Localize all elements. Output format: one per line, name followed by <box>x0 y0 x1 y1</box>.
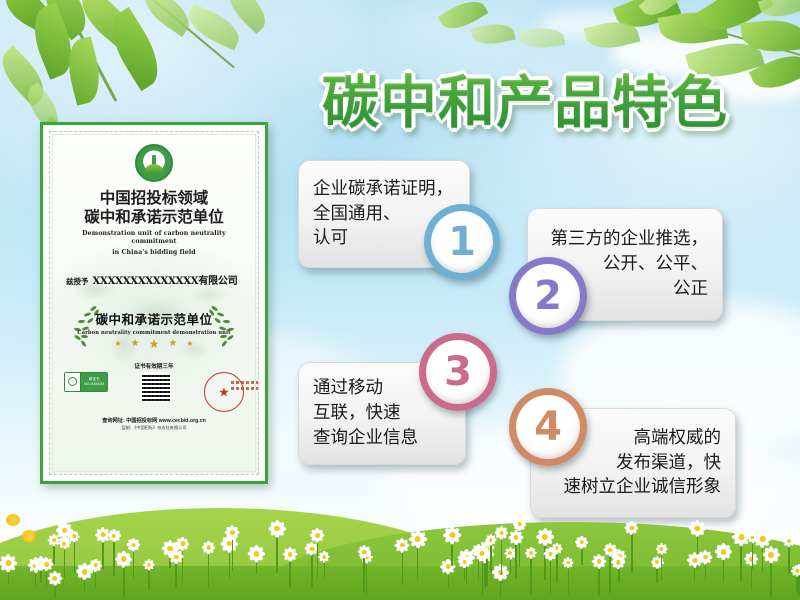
daisy-core <box>62 528 68 534</box>
certificate-english-line1: Demonstration unit of carbon neutrality … <box>60 230 248 247</box>
daisy-stem <box>289 560 291 588</box>
daisy-stem <box>53 545 55 564</box>
daisy-head <box>59 539 69 549</box>
red-official-seal: ★ <box>204 372 244 412</box>
daisy-flower <box>170 551 182 587</box>
star-icon: ★ <box>149 338 160 350</box>
daisy-core <box>499 531 503 535</box>
daisy-core <box>616 560 621 565</box>
daisy-core <box>72 534 76 538</box>
daisy-head <box>716 545 730 559</box>
daisy-stem <box>84 579 86 591</box>
daisy-stem <box>175 563 177 587</box>
daisy-flower <box>459 557 470 580</box>
daisy-stem <box>74 541 76 573</box>
daisy-flower <box>716 545 730 582</box>
daisy-core <box>62 542 66 546</box>
star-icon: ★ <box>186 340 193 348</box>
daisy-stem <box>515 543 517 579</box>
daisy-stem <box>54 584 56 598</box>
daisy-head <box>657 544 667 554</box>
daisy-flower <box>748 533 757 569</box>
award-label: 兹授予 <box>66 276 89 287</box>
award-company-name: XXXXXXXXXXXXXX有限公司 <box>93 272 238 287</box>
daisy-flower <box>613 557 624 579</box>
daisy-stem <box>417 547 419 580</box>
daisy-flower <box>128 539 139 577</box>
daisy-head <box>270 522 284 536</box>
daisy-head <box>496 527 507 538</box>
daisy-core <box>254 551 260 557</box>
certificate-publisher: 监制: 《中国招标》杂志社有限公司 <box>60 425 248 431</box>
daisy-stem <box>661 554 663 579</box>
daisy-head <box>605 545 616 556</box>
daisy-core <box>489 538 493 542</box>
daisy-stem <box>64 549 66 579</box>
daisy-head <box>1 556 16 571</box>
daisy-head <box>486 535 495 544</box>
daisy-head <box>177 538 188 549</box>
daisy-flower <box>410 532 425 580</box>
certificate-number-badge: 碳证书 NO.0000034 <box>64 372 108 392</box>
daisy-flower <box>90 560 101 587</box>
feature-card-3-text: 通过移动 互联，快速 查询企业信息 <box>313 376 418 451</box>
daisy-stem <box>451 543 453 566</box>
daisy-head <box>144 560 153 569</box>
daisy-core <box>721 549 727 555</box>
daisy-stem <box>402 551 404 585</box>
daisy-flower <box>510 531 522 579</box>
daisy-stem <box>500 580 502 598</box>
daisy-flower <box>626 523 637 572</box>
daisy-head <box>734 530 749 545</box>
daisy-flower <box>312 530 324 578</box>
daisy-stem <box>740 545 742 581</box>
daisy-head <box>284 548 296 560</box>
daisy-flower <box>564 558 573 595</box>
daisy-stem <box>752 542 754 568</box>
certificate-heading-line1: 中国招投标领域 <box>60 188 248 207</box>
daisy-head <box>691 522 704 535</box>
daisy-stem <box>256 561 258 574</box>
daisy-stem <box>788 546 790 574</box>
daisy-core <box>274 526 280 532</box>
poster-title: 碳中和产品特色 <box>322 57 728 139</box>
daisy-flower <box>526 549 536 594</box>
daisy-flower <box>496 527 507 574</box>
wreath-title-en: Carbon neutrality commitment demonstrati… <box>60 330 248 336</box>
daisy-stem <box>568 567 570 595</box>
badge-number: NO.0000034 <box>84 382 104 387</box>
daisy-head <box>109 531 119 541</box>
daisy-core <box>100 532 105 537</box>
daisy-stem <box>276 536 278 573</box>
daisy-stem <box>46 570 48 586</box>
daisy-flower <box>1 556 16 584</box>
daisy-stem <box>618 568 620 578</box>
daisy-stem <box>705 563 707 579</box>
daisy-stem <box>631 534 633 572</box>
star-icon: ★ <box>168 339 177 349</box>
daisy-flower <box>59 539 69 578</box>
daisy-flower <box>226 527 238 572</box>
daisy-core <box>180 541 184 545</box>
daisy-head <box>312 530 324 542</box>
leaf-seal-icon <box>65 373 81 391</box>
badge-number-1: 1 <box>448 222 476 262</box>
daisy-head <box>410 532 425 547</box>
certificate-validity: 证书有效期三年 <box>60 362 248 370</box>
feature-line: 互联，快速 <box>313 401 418 426</box>
daisy-stem <box>550 559 552 594</box>
daisy-core <box>787 539 791 543</box>
feature-badge-2: 2 <box>509 257 587 335</box>
seal-text-lines <box>231 381 259 393</box>
daisy-flower <box>700 551 712 579</box>
daisy-stem <box>501 538 503 574</box>
daisy-flower <box>359 547 370 593</box>
daisy-flower <box>270 522 284 573</box>
daisy-stem <box>530 558 532 594</box>
daisy-head <box>538 529 552 543</box>
daisy-head <box>250 547 264 561</box>
daisy-stem <box>448 573 450 589</box>
daisy-core <box>52 538 56 542</box>
daisy-flower <box>109 531 119 576</box>
dandelion-flower <box>6 514 20 526</box>
daisy-flower <box>396 539 408 585</box>
daisy-core <box>608 548 612 552</box>
certificate-footer: 证书有效期三年 碳证书 NO.0000034 ★ <box>60 362 248 432</box>
daisy-stem <box>113 541 115 575</box>
daisy-core <box>82 569 87 574</box>
badge-number-4: 4 <box>534 407 562 447</box>
seal-star-icon: ★ <box>218 385 230 398</box>
daisy-head <box>764 548 778 562</box>
daisy-stem <box>363 557 365 592</box>
daisy-head <box>445 528 460 543</box>
daisy-stem <box>723 559 725 582</box>
daisy-head <box>41 559 53 571</box>
daisy-core <box>147 563 151 567</box>
daisy-head <box>49 535 59 545</box>
daisy-flower <box>486 535 495 572</box>
daisy-core <box>630 526 634 530</box>
daisy-flower <box>203 542 214 588</box>
certificate-query-url: 查询网址: 中国招投标网 www.cecbid.org.cn <box>60 417 248 424</box>
daisy-flower <box>41 559 53 587</box>
daisy-core <box>659 547 663 551</box>
daisy-flower <box>657 544 667 579</box>
star-icon: ★ <box>114 340 121 348</box>
daisy-flower <box>144 560 153 590</box>
certificate-award-row: 兹授予 XXXXXXXXXXXXXX有限公司 <box>66 272 248 287</box>
daisy-flower <box>593 555 605 596</box>
daisy-head <box>613 557 624 568</box>
daisy-head <box>784 536 794 546</box>
daisy-core <box>795 569 799 573</box>
daisy-stem <box>95 571 97 588</box>
daisy-head <box>128 539 139 550</box>
daisy-head <box>748 533 757 542</box>
daisy-stem <box>490 544 492 572</box>
grass-meadow <box>0 470 800 600</box>
qr-code <box>141 372 171 402</box>
daisy-flower <box>284 548 296 588</box>
daisy-head <box>626 523 637 534</box>
daisy-flower <box>70 532 79 574</box>
daisy-head <box>510 531 522 543</box>
daisy-stem <box>581 547 583 565</box>
daisy-core <box>768 552 774 558</box>
wreath-title-cn: 碳中和承诺示范单位 <box>60 309 248 328</box>
daisy-head <box>564 558 573 567</box>
daisy-core <box>692 558 697 563</box>
daisy-stem <box>770 562 772 597</box>
badge-number-3: 3 <box>444 352 472 392</box>
feature-line: 第三方的企业推选， <box>551 227 709 252</box>
daisy-head <box>78 565 92 579</box>
daisy-head <box>396 539 408 551</box>
feature-badge-3: 3 <box>419 333 497 411</box>
daisy-stem <box>317 541 319 578</box>
daisy-stem <box>324 561 326 578</box>
daisy-flower <box>250 547 264 574</box>
certificate-english-line2: in China's bidding field <box>60 249 248 257</box>
daisy-head <box>203 542 214 553</box>
feature-line: 通过移动 <box>313 376 418 401</box>
daisy-stem <box>208 553 210 588</box>
daisy-stem <box>133 550 135 577</box>
daisy-flower <box>688 554 701 581</box>
daisy-flower <box>784 536 794 574</box>
daisy-head <box>90 560 101 571</box>
daisy-core <box>131 543 135 547</box>
daisy-head <box>514 519 524 529</box>
daisy-core <box>362 550 366 554</box>
daisy-core <box>529 551 533 555</box>
daisy-stem <box>464 567 466 580</box>
daisy-stem <box>232 539 234 572</box>
daisy-stem <box>751 565 753 589</box>
daisy-head <box>526 549 536 559</box>
feature-line: 查询企业信息 <box>313 426 418 451</box>
daisy-stem <box>694 567 696 581</box>
daisy-flower <box>552 544 561 584</box>
feature-badge-4: 4 <box>509 388 587 466</box>
daisy-core <box>513 535 518 540</box>
daisy-flower <box>764 548 778 598</box>
dandelion-flower <box>22 530 36 542</box>
daisy-head <box>170 551 182 563</box>
daisy-head <box>688 554 701 567</box>
badge-number-2: 2 <box>534 276 562 316</box>
daisy-stem <box>482 560 484 596</box>
certificate-heading-line2: 碳中和承诺示范单位 <box>60 207 248 226</box>
daisy-stem <box>796 576 798 594</box>
daisy-stem <box>123 566 125 597</box>
daisy-flower <box>577 537 587 565</box>
star-icon: ★ <box>131 339 140 349</box>
daisy-head <box>552 544 561 553</box>
poster-canvas: 碳中和产品特色 中国招投标领域 碳中和承诺示范单位 Demonstration … <box>0 0 800 600</box>
feature-line: 高端权威的 <box>564 426 722 451</box>
daisy-head <box>70 532 79 541</box>
daisy-head <box>577 537 587 547</box>
certificate-wreath: 碳中和承诺示范单位 Carbon neutrality commitment d… <box>60 307 248 353</box>
daisy-stem <box>148 569 150 589</box>
daisy-head <box>593 555 605 567</box>
feature-badge-1: 1 <box>424 204 500 280</box>
daisy-head <box>226 527 238 539</box>
feature-line: 企业碳承诺证明， <box>313 177 453 202</box>
daisy-stem <box>598 567 600 596</box>
daisy-head <box>459 557 470 568</box>
daisy-stem <box>102 541 104 569</box>
daisy-stem <box>556 553 558 583</box>
certificate-image: 中国招投标领域 碳中和承诺示范单位 Demonstration unit of … <box>40 122 268 484</box>
star-rating: ★ ★ ★ ★ ★ <box>60 338 248 350</box>
daisy-head <box>359 547 370 558</box>
